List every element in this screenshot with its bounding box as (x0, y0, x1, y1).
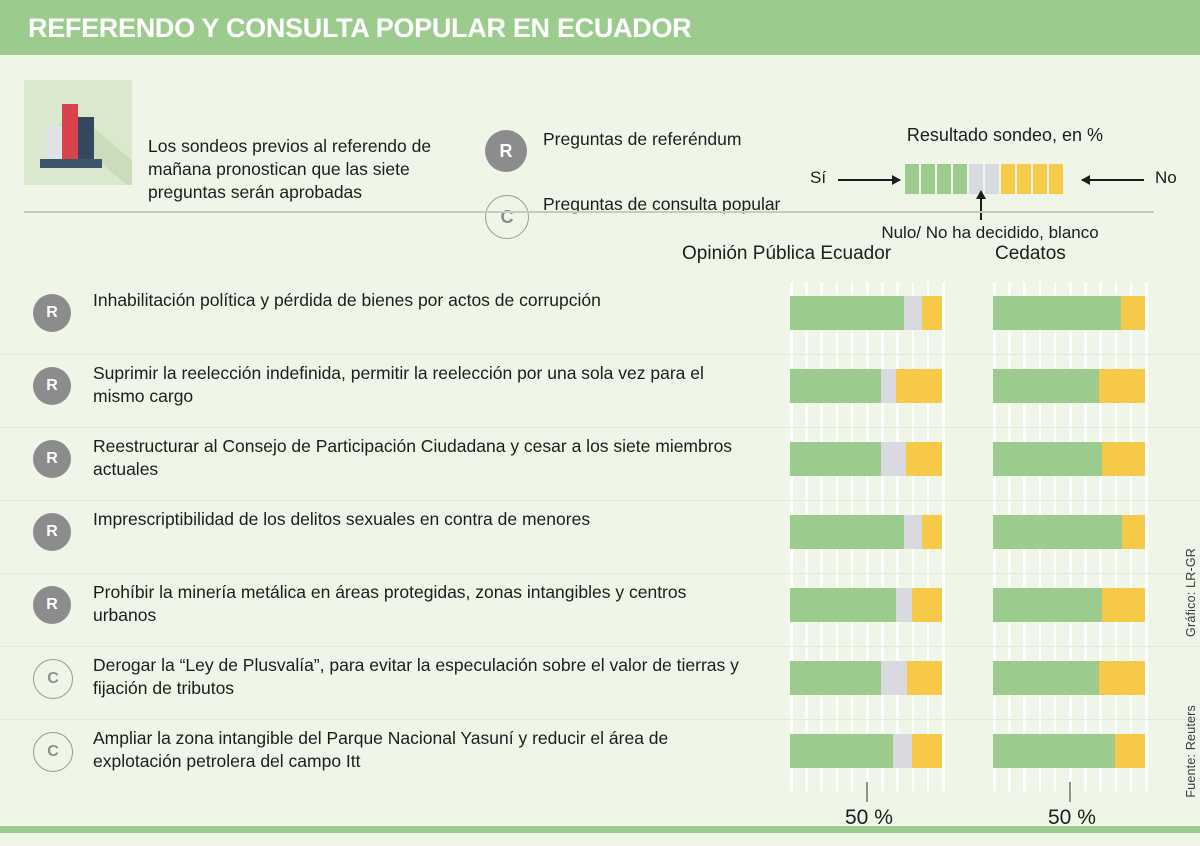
table-row: CDerogar la “Ley de Plusvalía”, para evi… (0, 646, 1200, 719)
tick-cedatos (1069, 782, 1071, 802)
scale-segment-yes (937, 164, 951, 194)
bar-segment-no (896, 369, 942, 403)
bar-segment-yes (790, 369, 881, 403)
scale-segment-undecided (985, 164, 999, 194)
question-text: Derogar la “Ley de Plusvalía”, para evit… (93, 654, 753, 700)
infographic-page: REFERENDO Y CONSULTA POPULAR EN ECUADOR … (0, 0, 1200, 833)
plot-opinion-publica (790, 588, 942, 630)
stacked-bar (790, 661, 942, 695)
stacked-bar (790, 369, 942, 403)
scale-segment-yes (905, 164, 919, 194)
badge-r-icon: R (33, 440, 71, 478)
badge-c-icon: C (33, 732, 73, 772)
scale-footnote: Nulo/ No ha decidido, blanco (810, 223, 1170, 243)
stacked-bar (993, 296, 1145, 330)
bar-segment-yes (993, 442, 1102, 476)
question-text: Imprescriptibilidad de los delitos sexua… (93, 508, 753, 531)
bar-segment-yes (790, 515, 904, 549)
stacked-bar (790, 588, 942, 622)
question-text: Reestructurar al Consejo de Participació… (93, 435, 753, 481)
bar-segment-no (906, 442, 942, 476)
legend-key-referendum-label: Preguntas de referéndum (543, 128, 783, 151)
bar-segment-no (1122, 515, 1145, 549)
question-text: Suprimir la reelección indefinida, permi… (93, 362, 753, 408)
icon-bar-base (40, 159, 102, 168)
column-header-opinion-publica: Opinión Pública Ecuador (682, 243, 891, 265)
credit-source: Fuente: Reuters (1184, 705, 1198, 798)
question-rows: RInhabilitación política y pérdida de bi… (0, 282, 1200, 792)
icon-bar-red (62, 104, 78, 159)
scale-segment-yes (921, 164, 935, 194)
stacked-bar (993, 369, 1145, 403)
bar-segment-yes (790, 588, 896, 622)
scale-segment-no (1017, 164, 1031, 194)
scale-segment-yes (953, 164, 967, 194)
bar-segment-no (1102, 588, 1145, 622)
stacked-bar (993, 442, 1145, 476)
plot-cedatos (993, 661, 1145, 703)
bar-segment-no (907, 661, 942, 695)
table-row: RInhabilitación política y pérdida de bi… (0, 282, 1200, 354)
bar-segment-no (1099, 661, 1145, 695)
bar-segment-yes (790, 661, 881, 695)
stacked-bar (993, 734, 1145, 768)
scale-title: Resultado sondeo, en % (855, 125, 1155, 146)
footer-band (0, 826, 1200, 833)
arrow-left-icon (1082, 179, 1144, 181)
bar-segment-no (1121, 296, 1145, 330)
bar-segment-no (1099, 369, 1145, 403)
stacked-bar (790, 734, 942, 768)
bar-segment-undecided (904, 515, 922, 549)
table-row: CAmpliar la zona intangible del Parque N… (0, 719, 1200, 792)
bar-segment-yes (993, 369, 1099, 403)
question-text: Inhabilitación política y pérdida de bie… (93, 289, 753, 312)
icon-bar-gray (47, 126, 62, 159)
table-row: RProhíbir la minería metálica en áreas p… (0, 573, 1200, 646)
plot-cedatos (993, 442, 1145, 484)
bar-segment-no (922, 515, 942, 549)
plot-cedatos (993, 296, 1145, 338)
table-row: RReestructurar al Consejo de Participaci… (0, 427, 1200, 500)
bar-segment-undecided (881, 442, 905, 476)
bar-segment-yes (993, 661, 1099, 695)
bar-segment-undecided (881, 369, 896, 403)
bar-segment-no (912, 588, 942, 622)
question-text: Ampliar la zona intangible del Parque Na… (93, 727, 753, 773)
bar-segment-undecided (904, 296, 922, 330)
page-title: REFERENDO Y CONSULTA POPULAR EN ECUADOR (28, 13, 691, 44)
plot-opinion-publica (790, 734, 942, 776)
scale-segment-no (1001, 164, 1015, 194)
bar-segment-yes (993, 734, 1115, 768)
stacked-bar (790, 442, 942, 476)
plot-opinion-publica (790, 515, 942, 557)
plot-cedatos (993, 588, 1145, 630)
table-row: RSuprimir la reelección indefinida, perm… (0, 354, 1200, 427)
stacked-bar (790, 515, 942, 549)
badge-r-icon: R (33, 367, 71, 405)
legend-strip: Los sondeos previos al referendo de maña… (0, 55, 1200, 210)
bar-segment-no (922, 296, 942, 330)
bar-segment-yes (993, 588, 1102, 622)
badge-r-icon: R (485, 130, 527, 172)
plot-opinion-publica (790, 661, 942, 703)
plot-cedatos (993, 734, 1145, 776)
bar-segment-yes (993, 515, 1122, 549)
bar-segment-yes (790, 442, 881, 476)
bar-segment-no (1102, 442, 1145, 476)
credit-graphic: Gráfico: LR-GR (1184, 548, 1198, 637)
scale-legend: Sí No (810, 160, 1190, 198)
column-header-cedatos: Cedatos (995, 243, 1066, 265)
table-row: RImprescriptibilidad de los delitos sexu… (0, 500, 1200, 573)
tick-ope (866, 782, 868, 802)
ballot-bar-chart-icon (24, 80, 132, 185)
bar-segment-no (912, 734, 942, 768)
plot-opinion-publica (790, 369, 942, 411)
stacked-bar (993, 661, 1145, 695)
arrow-right-icon (838, 179, 900, 181)
badge-r-icon: R (33, 294, 71, 332)
question-text: Prohíbir la minería metálica en áreas pr… (93, 581, 753, 627)
stacked-bar (993, 588, 1145, 622)
badge-c-icon: C (33, 659, 73, 699)
scale-label-no: No (1155, 168, 1177, 188)
scale-label-si: Sí (810, 168, 826, 188)
badge-c-icon: C (485, 195, 529, 239)
section-divider (24, 211, 1154, 213)
arrow-up-icon (980, 198, 982, 220)
bar-segment-yes (790, 296, 904, 330)
stacked-bar (790, 296, 942, 330)
bar-segment-undecided (896, 588, 911, 622)
icon-bar-navy (78, 117, 94, 159)
bar-segment-undecided (881, 661, 907, 695)
badge-r-icon: R (33, 513, 71, 551)
intro-text: Los sondeos previos al referendo de maña… (148, 135, 448, 204)
axis-area: 50 % 50 % (0, 786, 1200, 846)
badge-r-icon: R (33, 586, 71, 624)
scale-segment-no (1033, 164, 1047, 194)
bar-segment-yes (993, 296, 1121, 330)
plot-opinion-publica (790, 296, 942, 338)
plot-cedatos (993, 515, 1145, 557)
bar-segment-yes (790, 734, 893, 768)
scale-segment-no (1049, 164, 1063, 194)
bar-segment-undecided (893, 734, 911, 768)
bar-segment-no (1115, 734, 1145, 768)
plot-cedatos (993, 369, 1145, 411)
legend-key-consulta-label: Preguntas de consulta popular (543, 193, 783, 216)
stacked-bar (993, 515, 1145, 549)
plot-opinion-publica (790, 442, 942, 484)
